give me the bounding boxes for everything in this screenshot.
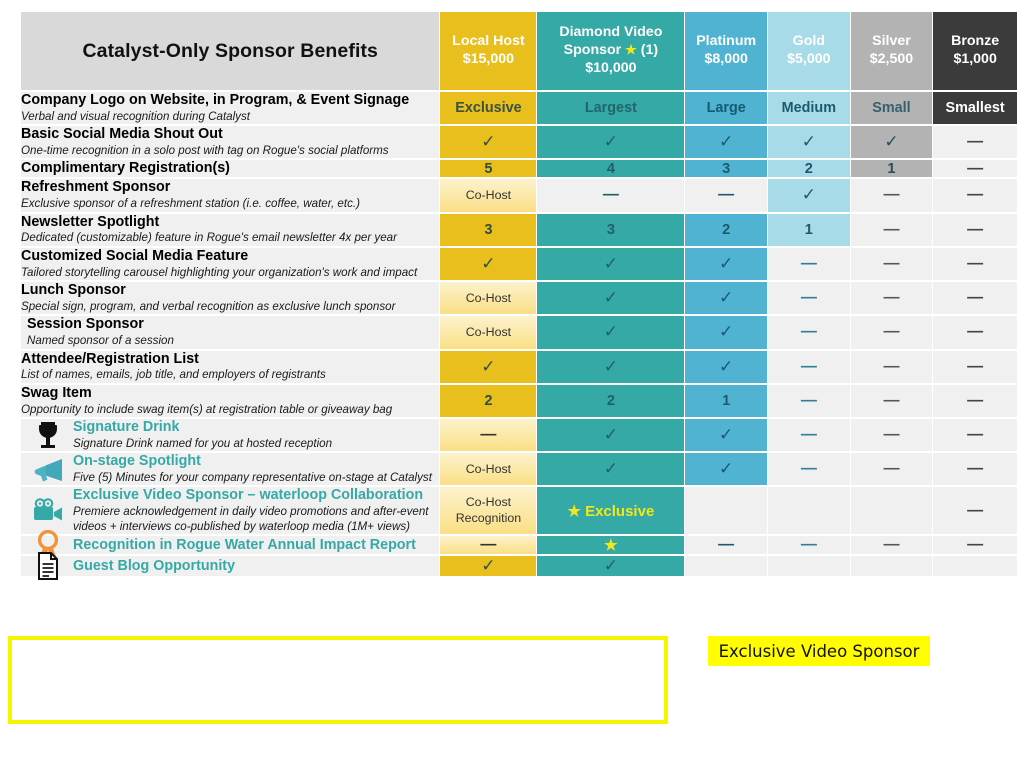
cell-value: ✓	[604, 556, 618, 575]
benefit-label-exclusive-video-sponsor: Exclusive Video Sponsor – waterloop Coll…	[21, 487, 439, 534]
cell-lunch-sponsor-local_host: Co-Host	[440, 282, 536, 314]
cell-value: ✓	[719, 288, 733, 307]
cell-guest-blog-opportunity-diamond_video: ✓	[537, 556, 684, 576]
cell-attendee-registration-list-bronze: —	[933, 351, 1017, 383]
cell-value: 2	[722, 222, 730, 238]
cell-value: ✓	[719, 357, 733, 376]
cell-value: —	[967, 289, 983, 306]
cell-value: —	[967, 502, 983, 519]
cell-value: Co-Host	[466, 291, 511, 305]
table-row: Recognition in Rogue Water Annual Impact…	[21, 536, 1017, 554]
cell-value: —	[883, 358, 899, 375]
cell-on-stage-spotlight-silver: —	[851, 453, 933, 485]
cell-customized-social-media-feature-silver: —	[851, 248, 933, 280]
cell-exclusive-video-sponsor-platinum	[685, 487, 767, 534]
cell-complimentary-registrations-platinum: 3	[685, 160, 767, 177]
cell-value: —	[967, 186, 983, 203]
column-header-price: $2,500	[851, 51, 933, 69]
cell-value: —	[603, 186, 619, 203]
cell-value: ✓	[604, 357, 618, 376]
cell-refreshment-sponsor-platinum: —	[685, 179, 767, 211]
cell-value: ✓	[802, 132, 816, 151]
cell-value: Smallest	[946, 100, 1005, 116]
benefit-description: Special sign, program, and verbal recogn…	[21, 300, 439, 314]
cell-on-stage-spotlight-diamond_video: ✓	[537, 453, 684, 485]
cell-attendee-registration-list-gold: —	[768, 351, 850, 383]
cell-value: —	[801, 255, 817, 272]
cell-lunch-sponsor-platinum: ✓	[685, 282, 767, 314]
cell-value: ✓	[604, 425, 618, 444]
cell-value: —	[967, 255, 983, 272]
cell-on-stage-spotlight-bronze: —	[933, 453, 1017, 485]
cell-exclusive-video-sponsor-silver	[851, 487, 933, 534]
cell-value: 1	[805, 222, 813, 238]
column-header-local_host: Local Host$15,000	[440, 12, 536, 90]
cell-value: —	[883, 186, 899, 203]
cell-value: —	[480, 426, 496, 443]
benefit-label-recognition-annual-impact-report: Recognition in Rogue Water Annual Impact…	[21, 536, 439, 554]
cell-value: 2	[805, 161, 813, 177]
cell-value: —	[883, 460, 899, 477]
benefit-description: Opportunity to include swag item(s) at r…	[21, 403, 439, 417]
cell-value: ✓	[604, 322, 618, 341]
cell-value: 4	[607, 161, 615, 177]
cell-complimentary-registrations-gold: 2	[768, 160, 850, 177]
benefit-label-company-logo: Company Logo on Website, in Program, & E…	[21, 92, 439, 124]
column-header-name: Diamond Video Sponsor ★ (1)	[537, 24, 684, 60]
cell-newsletter-spotlight-local_host: 3	[440, 214, 536, 246]
cell-value: ✓	[604, 288, 618, 307]
benefit-label-on-stage-spotlight: On-stage SpotlightFive (5) Minutes for y…	[21, 453, 439, 485]
cell-value: —	[883, 255, 899, 272]
cell-value: ✓	[719, 132, 733, 151]
benefit-description: Exclusive sponsor of a refreshment stati…	[21, 197, 439, 211]
cell-company-logo-diamond_video: Largest	[537, 92, 684, 124]
cell-value: ✓	[719, 425, 733, 444]
cell-value: —	[967, 358, 983, 375]
cell-value: 3	[722, 161, 730, 177]
benefit-title: Refreshment Sponsor	[21, 179, 439, 196]
benefit-label-attendee-registration-list: Attendee/Registration ListList of names,…	[21, 351, 439, 383]
column-header-name: Platinum	[685, 33, 767, 51]
cell-newsletter-spotlight-diamond_video: 3	[537, 214, 684, 246]
cell-value: —	[883, 392, 899, 409]
cell-basic-social-media-diamond_video: ✓	[537, 126, 684, 158]
callout-label: Exclusive Video Sponsor	[719, 642, 920, 661]
cell-value: —	[801, 460, 817, 477]
benefit-label-basic-social-media: Basic Social Media Shout OutOne-time rec…	[21, 126, 439, 158]
cell-session-sponsor-diamond_video: ✓	[537, 316, 684, 348]
benefit-label-complimentary-registrations: Complimentary Registration(s)	[21, 160, 439, 177]
cell-value: Small	[872, 100, 910, 116]
column-header-bronze: Bronze$1,000	[933, 12, 1017, 90]
cell-value: —	[883, 426, 899, 443]
cell-attendee-registration-list-platinum: ✓	[685, 351, 767, 383]
column-header-name: Gold	[768, 33, 850, 51]
cell-value: —	[801, 289, 817, 306]
cell-customized-social-media-feature-platinum: ✓	[685, 248, 767, 280]
cell-company-logo-bronze: Smallest	[933, 92, 1017, 124]
table-row: Attendee/Registration ListList of names,…	[21, 351, 1017, 383]
benefit-title: Recognition in Rogue Water Annual Impact…	[73, 537, 439, 554]
cell-refreshment-sponsor-diamond_video: —	[537, 179, 684, 211]
cell-recognition-annual-impact-report-local_host: —	[440, 536, 536, 554]
cell-newsletter-spotlight-platinum: 2	[685, 214, 767, 246]
cell-basic-social-media-local_host: ✓	[440, 126, 536, 158]
cell-value: Medium	[782, 100, 836, 116]
cell-value: —	[883, 536, 899, 553]
cell-value: —	[801, 536, 817, 553]
cell-guest-blog-opportunity-bronze	[933, 556, 1017, 576]
benefit-title: Session Sponsor	[21, 316, 439, 333]
video-sponsor-highlight-outline	[8, 636, 668, 724]
benefit-description: One-time recognition in a solo post with…	[21, 144, 439, 158]
cell-company-logo-local_host: Exclusive	[440, 92, 536, 124]
cell-value: 3	[484, 222, 492, 238]
benefit-title: Signature Drink	[73, 419, 439, 436]
benefit-label-signature-drink: Signature DrinkSignature Drink named for…	[21, 419, 439, 451]
column-header-count: (1)	[637, 42, 658, 58]
benefit-description: Tailored storytelling carousel highlight…	[21, 266, 439, 280]
cell-complimentary-registrations-bronze: —	[933, 160, 1017, 177]
benefit-title: Lunch Sponsor	[21, 282, 439, 299]
cell-swag-item-gold: —	[768, 385, 850, 417]
benefit-title: Attendee/Registration List	[21, 351, 439, 368]
benefit-title: Company Logo on Website, in Program, & E…	[21, 92, 439, 109]
cell-on-stage-spotlight-gold: —	[768, 453, 850, 485]
cell-basic-social-media-gold: ✓	[768, 126, 850, 158]
video-camera-icon	[31, 494, 65, 528]
benefit-description: Dedicated (customizable) feature in Rogu…	[21, 231, 439, 245]
cell-value: ✓	[802, 185, 816, 204]
cell-swag-item-platinum: 1	[685, 385, 767, 417]
exclusive-video-sponsor-callout: Exclusive Video Sponsor	[708, 636, 930, 666]
column-header-silver: Silver$2,500	[851, 12, 933, 90]
cell-value: —	[883, 323, 899, 340]
cell-attendee-registration-list-silver: —	[851, 351, 933, 383]
cell-value: Co-Host	[466, 188, 511, 202]
cell-value: —	[967, 426, 983, 443]
table-row: Exclusive Video Sponsor – waterloop Coll…	[21, 487, 1017, 534]
table-row: Signature DrinkSignature Drink named for…	[21, 419, 1017, 451]
benefit-title: Swag Item	[21, 385, 439, 402]
cell-refreshment-sponsor-silver: —	[851, 179, 933, 211]
document-icon	[31, 549, 65, 583]
cell-value: 1	[887, 161, 895, 177]
cell-value: —	[967, 392, 983, 409]
cell-lunch-sponsor-bronze: —	[933, 282, 1017, 314]
cell-signature-drink-gold: —	[768, 419, 850, 451]
sponsor-benefits-sheet: Catalyst-Only Sponsor BenefitsLocal Host…	[0, 0, 1024, 768]
cell-session-sponsor-bronze: —	[933, 316, 1017, 348]
cell-value: Co-Host	[466, 325, 511, 339]
cell-value: ✓	[719, 459, 733, 478]
cell-exclusive-video-sponsor-local_host: Co-Host Recognition	[440, 487, 536, 534]
cell-lunch-sponsor-gold: —	[768, 282, 850, 314]
cell-basic-social-media-bronze: —	[933, 126, 1017, 158]
table-row: Complimentary Registration(s)54321—	[21, 160, 1017, 177]
cell-newsletter-spotlight-gold: 1	[768, 214, 850, 246]
cell-lunch-sponsor-diamond_video: ✓	[537, 282, 684, 314]
table-row: Refreshment SponsorExclusive sponsor of …	[21, 179, 1017, 211]
cell-value: ✓	[481, 556, 495, 575]
cell-swag-item-bronze: —	[933, 385, 1017, 417]
cell-newsletter-spotlight-silver: —	[851, 214, 933, 246]
cell-value: —	[801, 392, 817, 409]
cell-complimentary-registrations-local_host: 5	[440, 160, 536, 177]
cell-guest-blog-opportunity-silver	[851, 556, 933, 576]
cell-refreshment-sponsor-bronze: —	[933, 179, 1017, 211]
benefit-description: Five (5) Minutes for your company repres…	[73, 471, 439, 485]
cell-value: Exclusive	[455, 100, 521, 116]
column-header-price: $10,000	[537, 60, 684, 78]
benefit-label-refreshment-sponsor: Refreshment SponsorExclusive sponsor of …	[21, 179, 439, 211]
cell-customized-social-media-feature-local_host: ✓	[440, 248, 536, 280]
benefit-description: Premiere acknowledgement in daily video …	[73, 505, 439, 534]
cell-value: ★	[604, 537, 617, 554]
cell-value: Co-Host Recognition	[440, 495, 536, 526]
cell-customized-social-media-feature-gold: —	[768, 248, 850, 280]
column-header-name: Bronze	[933, 33, 1017, 51]
benefit-title: Exclusive Video Sponsor – waterloop Coll…	[73, 487, 439, 504]
benefit-label-session-sponsor: Session SponsorNamed sponsor of a sessio…	[21, 316, 439, 348]
document-title: Catalyst-Only Sponsor Benefits	[21, 12, 439, 90]
cell-value: —	[718, 536, 734, 553]
cell-signature-drink-bronze: —	[933, 419, 1017, 451]
cell-company-logo-platinum: Large	[685, 92, 767, 124]
cell-lunch-sponsor-silver: —	[851, 282, 933, 314]
cell-value: —	[801, 358, 817, 375]
cell-exclusive-video-sponsor-gold	[768, 487, 850, 534]
benefit-label-newsletter-spotlight: Newsletter SpotlightDedicated (customiza…	[21, 214, 439, 246]
cell-recognition-annual-impact-report-gold: —	[768, 536, 850, 554]
cell-value: 1	[722, 393, 730, 409]
column-header-diamond_video: Diamond Video Sponsor ★ (1)$10,000	[537, 12, 684, 90]
cell-recognition-annual-impact-report-silver: —	[851, 536, 933, 554]
cell-newsletter-spotlight-bronze: —	[933, 214, 1017, 246]
column-header-price: $5,000	[768, 51, 850, 69]
cell-complimentary-registrations-diamond_video: 4	[537, 160, 684, 177]
cell-guest-blog-opportunity-local_host: ✓	[440, 556, 536, 576]
cell-basic-social-media-platinum: ✓	[685, 126, 767, 158]
cell-swag-item-diamond_video: 2	[537, 385, 684, 417]
benefit-label-guest-blog-opportunity: Guest Blog Opportunity	[21, 556, 439, 576]
cell-value: Largest	[585, 100, 637, 116]
cell-value: ✓	[719, 254, 733, 273]
benefit-title: Complimentary Registration(s)	[21, 160, 439, 177]
column-header-name: Silver	[851, 33, 933, 51]
column-header-price: $15,000	[440, 51, 536, 69]
cell-value: Large	[707, 100, 746, 116]
column-header-price: $8,000	[685, 51, 767, 69]
cell-value: —	[883, 221, 899, 238]
benefit-title: Newsletter Spotlight	[21, 214, 439, 231]
benefit-title: Customized Social Media Feature	[21, 248, 439, 265]
cell-signature-drink-local_host: —	[440, 419, 536, 451]
cell-company-logo-gold: Medium	[768, 92, 850, 124]
table-row: Lunch SponsorSpecial sign, program, and …	[21, 282, 1017, 314]
column-header-name: Local Host	[440, 33, 536, 51]
sponsor-benefits-table: Catalyst-Only Sponsor BenefitsLocal Host…	[20, 10, 1018, 578]
benefit-title: Guest Blog Opportunity	[73, 558, 439, 575]
cell-guest-blog-opportunity-platinum	[685, 556, 767, 576]
cell-value: ✓	[481, 132, 495, 151]
benefit-label-customized-social-media-feature: Customized Social Media FeatureTailored …	[21, 248, 439, 280]
cell-value: Co-Host	[466, 462, 511, 476]
cell-value: ✓	[604, 459, 618, 478]
cell-value: —	[718, 186, 734, 203]
cell-value: ✓	[719, 322, 733, 341]
benefit-description: Verbal and visual recognition during Cat…	[21, 110, 439, 124]
cell-attendee-registration-list-diamond_video: ✓	[537, 351, 684, 383]
cell-value: —	[967, 323, 983, 340]
table-row: Customized Social Media FeatureTailored …	[21, 248, 1017, 280]
cell-value: 3	[607, 222, 615, 238]
cell-swag-item-silver: —	[851, 385, 933, 417]
table-row: Newsletter SpotlightDedicated (customiza…	[21, 214, 1017, 246]
cell-session-sponsor-silver: —	[851, 316, 933, 348]
cell-value: ★ Exclusive	[567, 503, 654, 520]
benefit-label-lunch-sponsor: Lunch SponsorSpecial sign, program, and …	[21, 282, 439, 314]
cell-attendee-registration-list-local_host: ✓	[440, 351, 536, 383]
cell-signature-drink-silver: —	[851, 419, 933, 451]
column-header-price: $1,000	[933, 51, 1017, 69]
cell-guest-blog-opportunity-gold	[768, 556, 850, 576]
table-row: Swag ItemOpportunity to include swag ite…	[21, 385, 1017, 417]
cell-value: —	[967, 536, 983, 553]
cell-value: —	[967, 160, 983, 177]
benefit-label-swag-item: Swag ItemOpportunity to include swag ite…	[21, 385, 439, 417]
benefit-description: Signature Drink named for you at hosted …	[73, 437, 439, 451]
cell-exclusive-video-sponsor-bronze: —	[933, 487, 1017, 534]
cell-value: 2	[607, 393, 615, 409]
cell-value: 2	[484, 393, 492, 409]
wine-glass-icon	[31, 418, 65, 452]
cell-value: —	[801, 426, 817, 443]
benefit-description: List of names, emails, job title, and em…	[21, 368, 439, 382]
cell-complimentary-registrations-silver: 1	[851, 160, 933, 177]
cell-signature-drink-diamond_video: ✓	[537, 419, 684, 451]
cell-value: ✓	[604, 254, 618, 273]
cell-session-sponsor-platinum: ✓	[685, 316, 767, 348]
column-header-gold: Gold$5,000	[768, 12, 850, 90]
cell-recognition-annual-impact-report-diamond_video: ★	[537, 536, 684, 554]
cell-basic-social-media-silver: ✓	[851, 126, 933, 158]
cell-value: —	[967, 221, 983, 238]
cell-value: ✓	[604, 132, 618, 151]
cell-value: —	[801, 323, 817, 340]
cell-value: —	[967, 133, 983, 150]
document-title-text: Catalyst-Only Sponsor Benefits	[82, 40, 378, 62]
cell-session-sponsor-gold: —	[768, 316, 850, 348]
benefit-title: On-stage Spotlight	[73, 453, 439, 470]
column-header-platinum: Platinum$8,000	[685, 12, 767, 90]
benefit-title: Basic Social Media Shout Out	[21, 126, 439, 143]
table-row: Basic Social Media Shout OutOne-time rec…	[21, 126, 1017, 158]
cell-signature-drink-platinum: ✓	[685, 419, 767, 451]
cell-on-stage-spotlight-platinum: ✓	[685, 453, 767, 485]
cell-recognition-annual-impact-report-platinum: —	[685, 536, 767, 554]
cell-value: ✓	[884, 132, 898, 151]
cell-company-logo-silver: Small	[851, 92, 933, 124]
cell-value: ✓	[481, 357, 495, 376]
cell-value: —	[967, 460, 983, 477]
table-row: Session SponsorNamed sponsor of a sessio…	[21, 316, 1017, 348]
cell-value: —	[883, 289, 899, 306]
cell-exclusive-video-sponsor-diamond_video: ★ Exclusive	[537, 487, 684, 534]
cell-customized-social-media-feature-bronze: —	[933, 248, 1017, 280]
cell-value: ✓	[481, 254, 495, 273]
table-row: Company Logo on Website, in Program, & E…	[21, 92, 1017, 124]
benefit-description: Named sponsor of a session	[21, 334, 439, 348]
table-row: On-stage SpotlightFive (5) Minutes for y…	[21, 453, 1017, 485]
cell-customized-social-media-feature-diamond_video: ✓	[537, 248, 684, 280]
megaphone-icon	[31, 452, 65, 486]
table-row: Guest Blog Opportunity✓✓	[21, 556, 1017, 576]
cell-session-sponsor-local_host: Co-Host	[440, 316, 536, 348]
cell-value: —	[480, 536, 496, 553]
cell-refreshment-sponsor-local_host: Co-Host	[440, 179, 536, 211]
cell-on-stage-spotlight-local_host: Co-Host	[440, 453, 536, 485]
cell-value: 5	[484, 161, 492, 177]
cell-refreshment-sponsor-gold: ✓	[768, 179, 850, 211]
star-icon: ★	[625, 42, 637, 57]
cell-recognition-annual-impact-report-bronze: —	[933, 536, 1017, 554]
cell-swag-item-local_host: 2	[440, 385, 536, 417]
